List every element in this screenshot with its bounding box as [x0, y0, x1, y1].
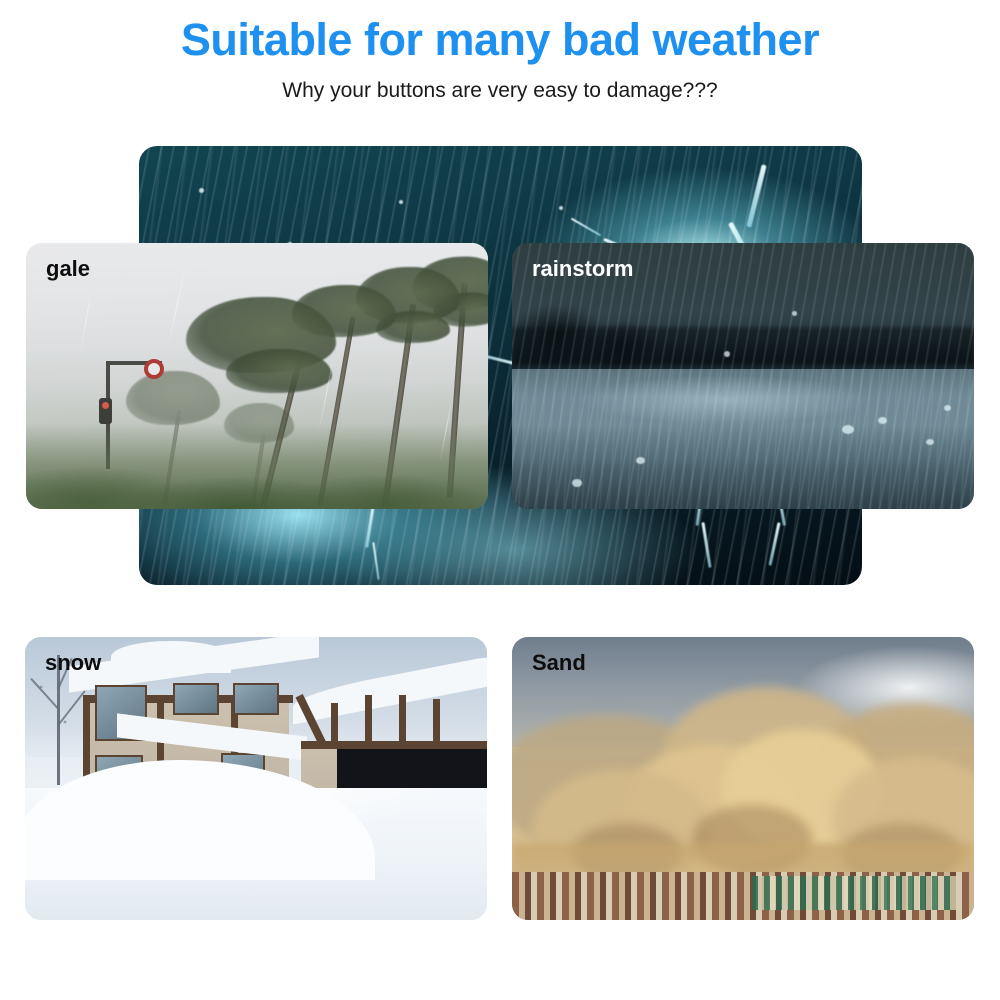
weather-card-sand[interactable]: Sand [512, 637, 974, 920]
rain-speck [559, 206, 563, 210]
card-label-gale: gale [46, 255, 90, 283]
weather-card-rainstorm[interactable]: rainstorm [512, 243, 974, 509]
blown-foliage-ground [26, 423, 488, 509]
house-gable-snow [111, 641, 231, 673]
card-label-snow: snow [45, 649, 101, 677]
rain-speck [399, 200, 403, 204]
city-rooftops [512, 872, 974, 920]
weather-card-snow[interactable]: snow [25, 637, 487, 920]
page-title: Suitable for many bad weather [0, 14, 1000, 66]
house-window [173, 683, 219, 715]
no-entry-sign-icon [144, 359, 164, 379]
weather-card-gale[interactable]: gale [26, 243, 488, 509]
garage-header-beam [301, 741, 487, 749]
card-label-rainstorm: rainstorm [532, 255, 633, 283]
rain-speck [199, 188, 204, 193]
traffic-signal-icon [99, 398, 112, 424]
page-subtitle: Why your buttons are very easy to damage… [0, 78, 1000, 104]
house-window [233, 683, 279, 715]
card-label-sand: Sand [532, 649, 586, 677]
